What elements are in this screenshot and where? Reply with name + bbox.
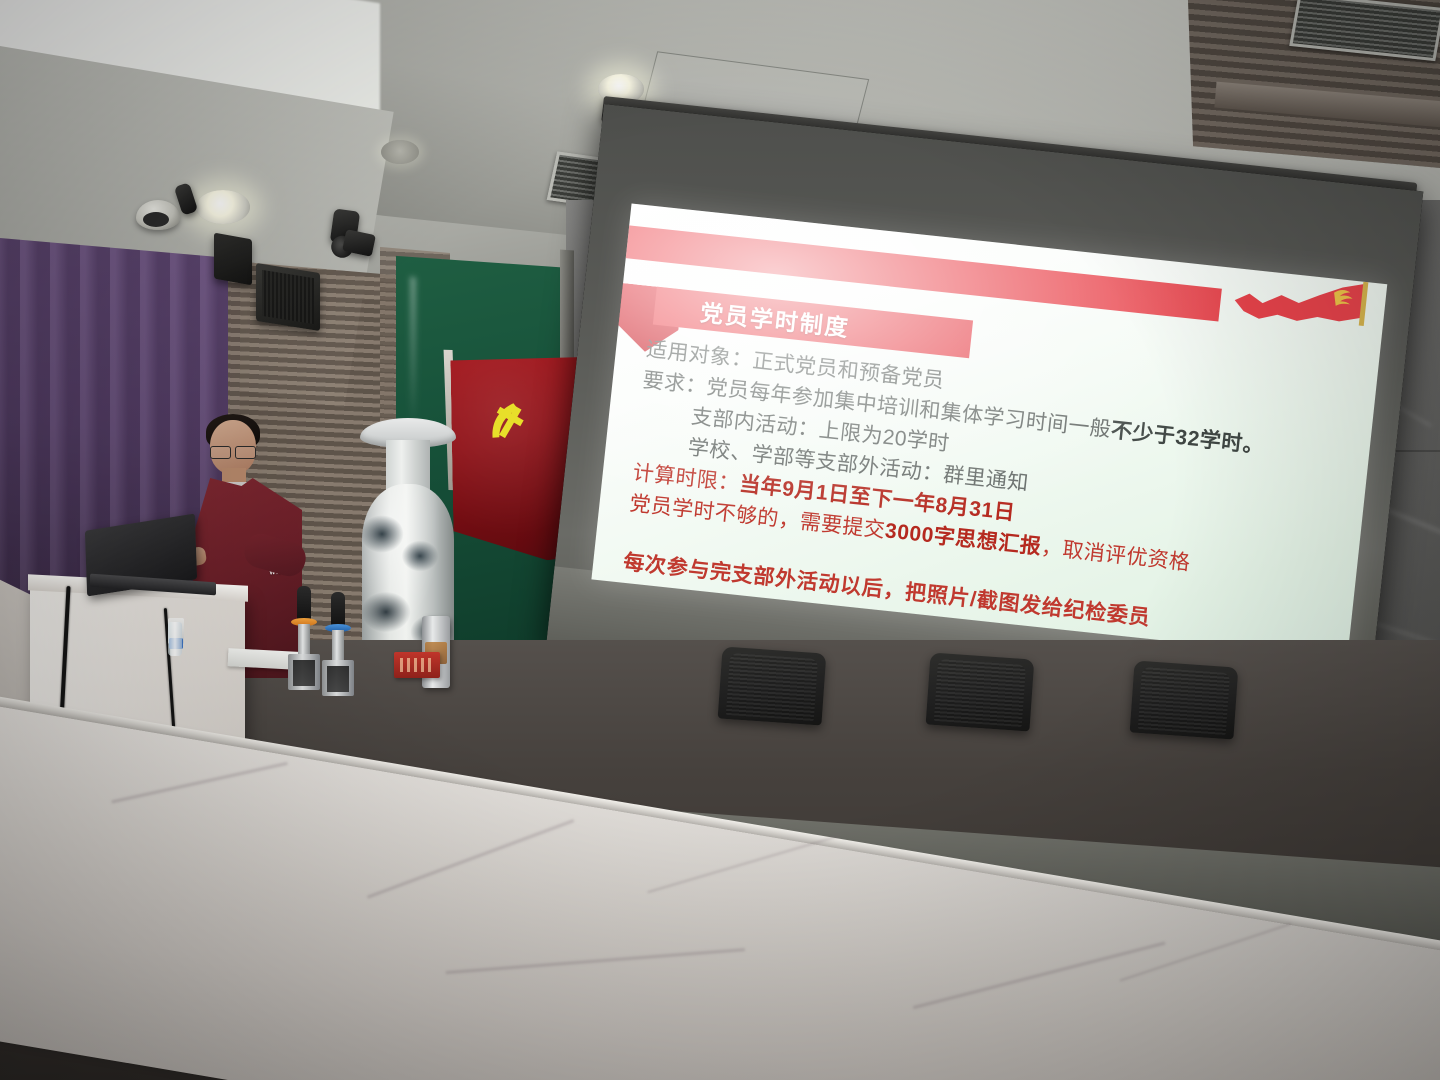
water-bottle	[168, 622, 182, 656]
downlight-icon	[196, 190, 250, 224]
glasses-icon	[210, 446, 256, 457]
wall-speaker-icon	[256, 263, 320, 331]
downlight-icon	[381, 140, 419, 164]
presentation-room-photo: 党员学时制度 适用对象：正式党员和预备党员 要求：党员每年参加集中培训和集体学习…	[0, 0, 1440, 1080]
presentation-slide: 党员学时制度 适用对象：正式党员和预备党员 要求：党员每年参加集中培训和集体学习…	[591, 203, 1387, 660]
red-box	[394, 652, 440, 678]
dome-camera-icon	[136, 200, 180, 230]
chair	[926, 652, 1035, 731]
wall-speaker-icon	[214, 233, 252, 286]
chair	[718, 646, 827, 725]
chair	[1130, 660, 1239, 739]
slide-title: 党员学时制度	[699, 294, 852, 344]
hammer-and-sickle-icon	[476, 390, 542, 456]
